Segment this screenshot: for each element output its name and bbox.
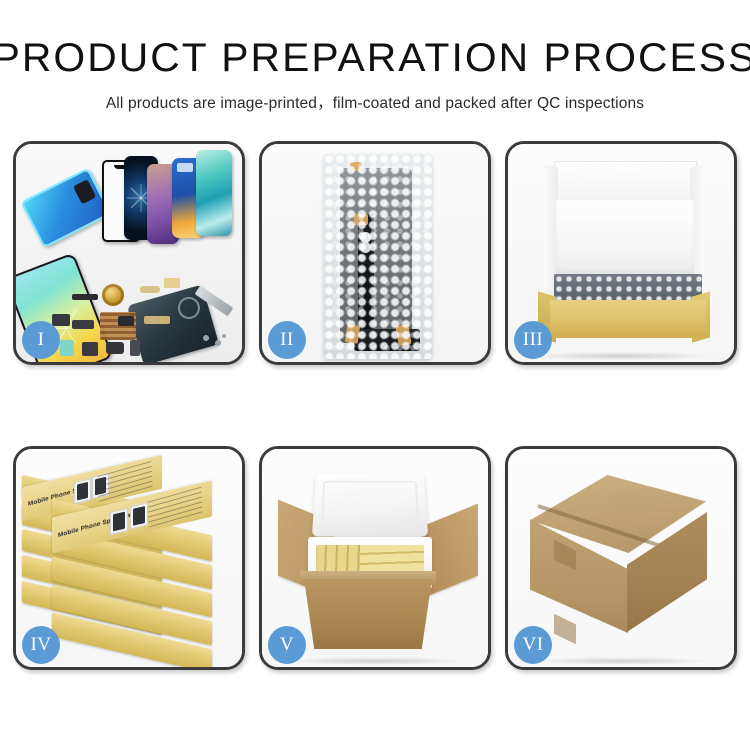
step-badge-3: III — [514, 321, 552, 359]
flex-cable-part — [144, 316, 170, 324]
foam-sheet — [556, 200, 694, 276]
bubble-wrap-package — [324, 154, 432, 359]
box-text-lines-right — [147, 487, 202, 528]
small-part-1 — [72, 294, 98, 300]
step-badge-5: V — [268, 626, 306, 664]
small-part-9 — [118, 316, 134, 326]
step-panel-2[interactable]: II — [259, 141, 491, 365]
page-title: PRODUCT PREPARATION PROCESS — [0, 38, 750, 78]
copper-coil-part — [102, 284, 124, 306]
small-part-8 — [130, 340, 140, 356]
small-part-5 — [60, 340, 74, 356]
drop-shadow — [531, 657, 712, 665]
box-art-screen-3 — [110, 508, 128, 535]
small-part-7 — [106, 342, 124, 354]
step-badge-2: II — [268, 321, 306, 359]
box-front-face — [550, 300, 706, 338]
step-badge-6: VI — [514, 626, 552, 664]
carton-tape-lower — [554, 614, 576, 645]
small-part-10 — [52, 314, 70, 326]
page-subtitle: All products are image-printed，film-coat… — [0, 91, 750, 113]
box-art-screen-1 — [74, 478, 91, 504]
step-panel-4[interactable]: Mobile Phone Spare Parts Mobile Phone Sp… — [13, 446, 245, 670]
bubble-texture-overlay — [324, 154, 432, 359]
carton-body — [304, 579, 432, 649]
step-panel-1[interactable]: I — [13, 141, 245, 365]
step-badge-1: I — [22, 321, 60, 359]
drop-shadow — [531, 352, 712, 360]
step-badge-4: IV — [22, 626, 60, 664]
small-part-4 — [72, 320, 94, 329]
box-art-screen-4 — [130, 502, 148, 529]
small-part-6 — [82, 342, 98, 356]
step-panel-5[interactable]: V — [259, 446, 491, 670]
step-panel-6[interactable]: VI — [505, 446, 737, 670]
small-part-3 — [164, 278, 180, 288]
process-steps-grid: I II — [13, 141, 737, 670]
screws-group — [202, 334, 228, 348]
teal-swirl-phone — [196, 150, 232, 236]
blue-phone-frame — [20, 168, 111, 249]
small-part-2 — [140, 286, 160, 293]
step-panel-3[interactable]: III — [505, 141, 737, 365]
drop-shadow — [285, 657, 466, 665]
styrofoam-lid — [312, 474, 428, 537]
page-header: PRODUCT PREPARATION PROCESS All products… — [0, 0, 750, 113]
